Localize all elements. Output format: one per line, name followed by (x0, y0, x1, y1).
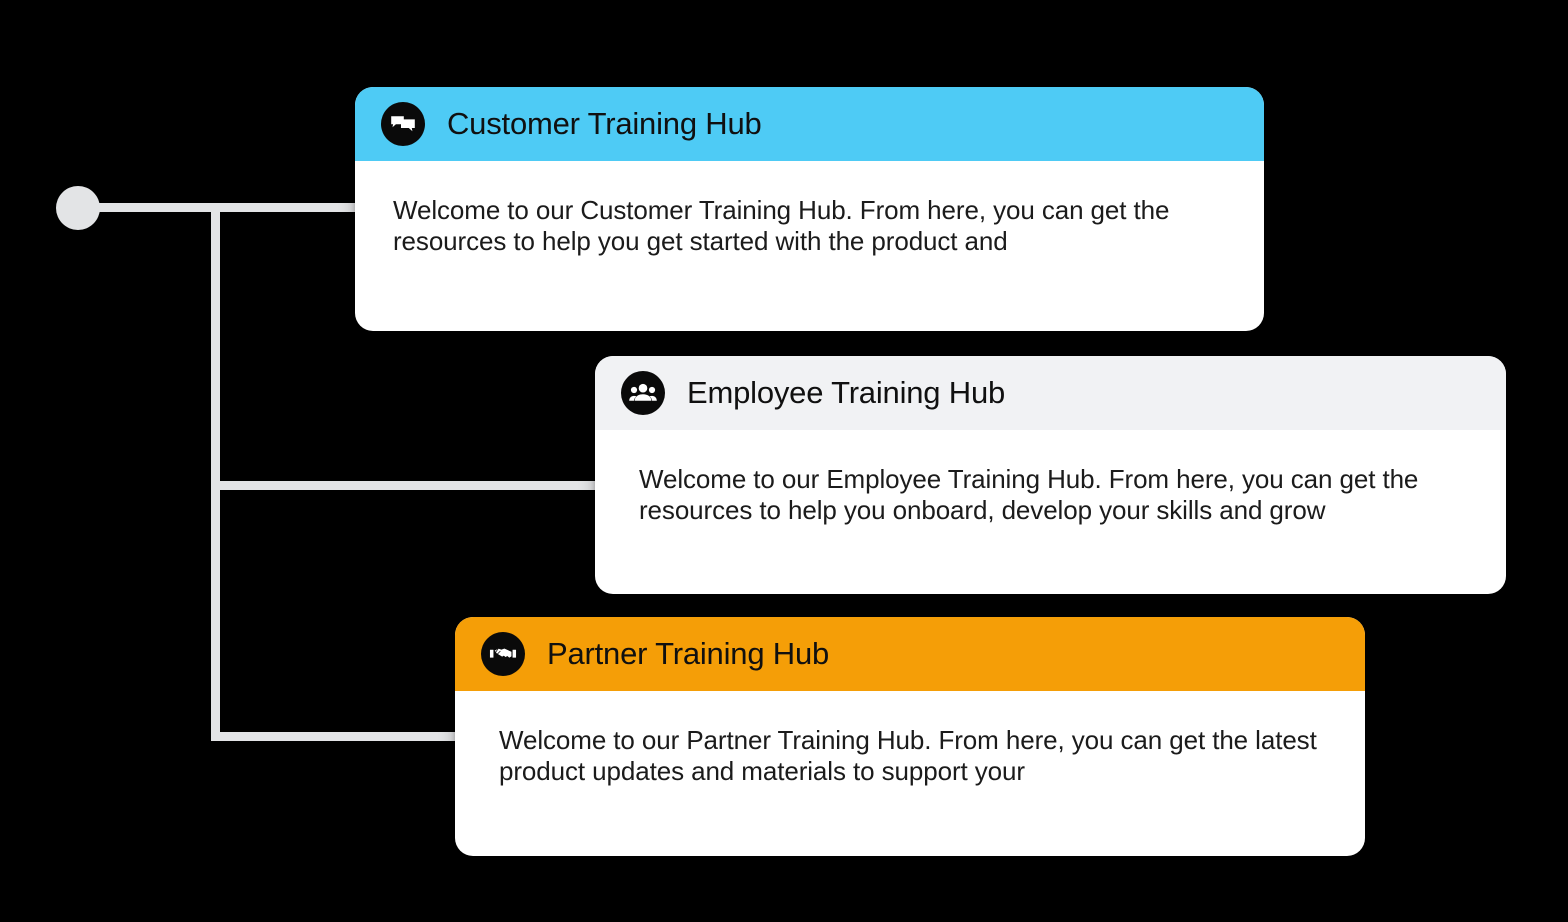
card-body-customer: Welcome to our Customer Training Hub. Fr… (355, 161, 1264, 297)
card-text-employee: Welcome to our Employee Training Hub. Fr… (639, 464, 1472, 526)
chat-bubbles-icon (381, 102, 425, 146)
card-employee-training-hub[interactable]: Employee Training Hub Welcome to our Emp… (595, 356, 1506, 594)
card-customer-training-hub[interactable]: Customer Training Hub Welcome to our Cus… (355, 87, 1264, 331)
card-title-partner: Partner Training Hub (547, 636, 829, 672)
card-text-partner: Welcome to our Partner Training Hub. Fro… (499, 725, 1331, 787)
card-header-employee: Employee Training Hub (595, 356, 1506, 430)
users-group-icon (621, 371, 665, 415)
connector-branch-partner (211, 732, 461, 741)
card-body-employee: Welcome to our Employee Training Hub. Fr… (595, 430, 1506, 566)
root-node[interactable] (56, 186, 100, 230)
diagram-canvas: Customer Training Hub Welcome to our Cus… (0, 0, 1568, 922)
connector-root-stub (78, 203, 220, 212)
card-body-partner: Welcome to our Partner Training Hub. Fro… (455, 691, 1365, 827)
connector-branch-employee (211, 481, 601, 490)
card-header-customer: Customer Training Hub (355, 87, 1264, 161)
handshake-icon (481, 632, 525, 676)
connector-trunk (211, 203, 220, 741)
card-text-customer: Welcome to our Customer Training Hub. Fr… (393, 195, 1230, 257)
card-partner-training-hub[interactable]: Partner Training Hub Welcome to our Part… (455, 617, 1365, 856)
card-title-customer: Customer Training Hub (447, 106, 762, 142)
card-header-partner: Partner Training Hub (455, 617, 1365, 691)
connector-branch-customer (211, 203, 361, 212)
card-title-employee: Employee Training Hub (687, 375, 1005, 411)
